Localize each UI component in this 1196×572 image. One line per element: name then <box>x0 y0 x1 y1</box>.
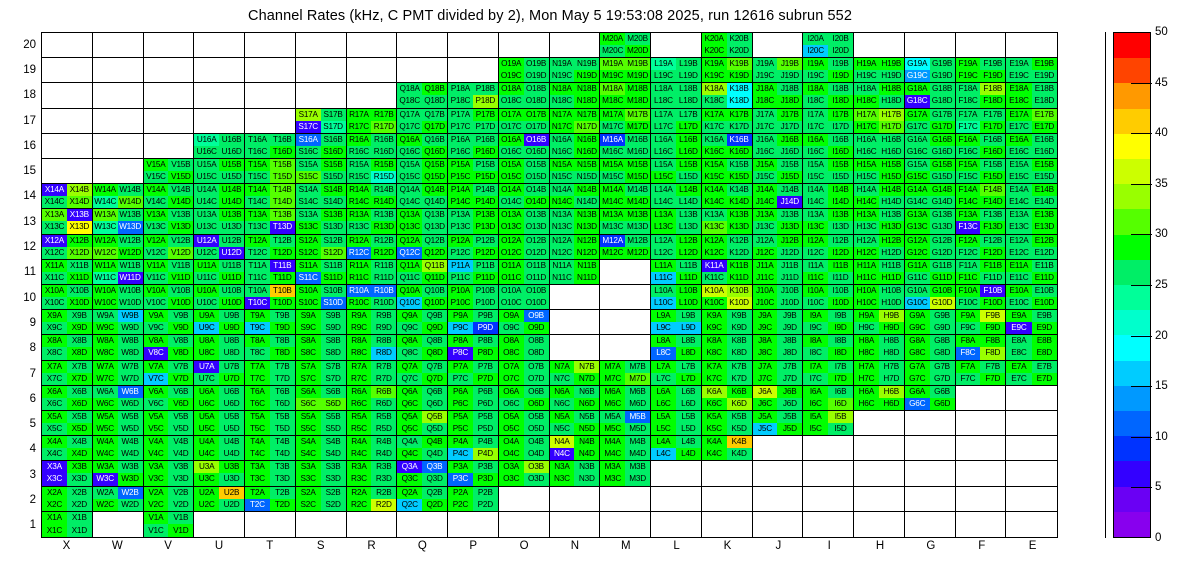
channel-subcell: S8D <box>321 347 346 359</box>
channel-subcell <box>144 146 169 158</box>
channel-subcell: O11B <box>524 260 549 272</box>
heatmap-cell: L5AL5BL5CL5D <box>651 411 702 436</box>
channel-subcell: G12C <box>905 247 930 259</box>
channel-subcell: K10C <box>702 297 727 309</box>
channel-subcell: M13D <box>625 221 650 233</box>
channel-subcell <box>524 524 549 537</box>
channel-subcell: R11A <box>347 260 372 272</box>
channel-subcell: S8B <box>321 335 346 347</box>
heatmap-cell <box>194 109 245 134</box>
channel-subcell: N17C <box>550 121 575 133</box>
x-axis-tick-label: O <box>504 540 544 552</box>
channel-subcell: U9C <box>194 322 219 334</box>
channel-subcell: O19D <box>524 70 549 82</box>
channel-subcell: S11D <box>321 272 346 284</box>
channel-subcell: H13A <box>854 209 879 221</box>
channel-subcell: O14D <box>524 196 549 208</box>
channel-subcell: J16B <box>777 134 802 146</box>
channel-subcell <box>956 386 981 398</box>
channel-subcell: J9A <box>753 310 778 322</box>
channel-subcell: F10B <box>980 285 1005 297</box>
channel-subcell: J8A <box>753 335 778 347</box>
heatmap-cell: P6AP6BP6CP6D <box>448 386 499 411</box>
channel-subcell: P9A <box>448 310 473 322</box>
heatmap-cell <box>144 109 195 134</box>
channel-subcell: V8D <box>168 347 193 359</box>
channel-subcell <box>194 95 219 107</box>
channel-subcell: N12A <box>550 235 575 247</box>
channel-subcell <box>550 335 575 347</box>
channel-subcell: L9A <box>651 310 676 322</box>
channel-subcell: T9C <box>245 322 270 334</box>
channel-subcell: H17C <box>854 121 879 133</box>
channel-subcell: R10A <box>347 285 372 297</box>
channel-subcell <box>854 33 879 45</box>
channel-subcell: W10B <box>118 285 143 297</box>
channel-subcell: V14A <box>144 184 169 196</box>
channel-subcell: K20A <box>702 33 727 45</box>
channel-subcell <box>168 70 193 82</box>
channel-subcell: U9D <box>219 322 244 334</box>
channel-subcell: I8A <box>803 335 828 347</box>
channel-subcell: T6B <box>270 386 295 398</box>
channel-subcell <box>600 524 625 537</box>
heatmap-cell: N6AN6BN6CN6D <box>550 386 601 411</box>
channel-subcell: N15C <box>550 171 575 183</box>
heatmap-cell: W9AW9BW9CW9D <box>93 310 144 335</box>
channel-subcell: H19B <box>879 58 904 70</box>
channel-subcell: Q10A <box>397 285 422 297</box>
channel-subcell <box>118 159 143 171</box>
channel-subcell: N14C <box>550 196 575 208</box>
colorbar-tick-mark <box>1131 83 1152 84</box>
heatmap-cell: G7AG7BG7CG7D <box>905 361 956 386</box>
channel-subcell <box>473 45 498 57</box>
channel-subcell: E16D <box>1032 146 1057 158</box>
channel-subcell: S16C <box>296 146 321 158</box>
channel-subcell: U13B <box>219 209 244 221</box>
channel-subcell: W12B <box>118 235 143 247</box>
channel-subcell: P10D <box>473 297 498 309</box>
heatmap-cell: Q15AQ15BQ15CQ15D <box>397 159 448 184</box>
heatmap-cell: P17AP17BP17CP17D <box>448 109 499 134</box>
channel-subcell <box>676 473 701 485</box>
channel-subcell: O18B <box>524 83 549 95</box>
heatmap-cell <box>651 487 702 512</box>
channel-subcell: I18A <box>803 83 828 95</box>
channel-subcell <box>980 423 1005 435</box>
heatmap-cell: U14AU14BU14CU14D <box>194 184 245 209</box>
channel-subcell <box>625 512 650 525</box>
channel-subcell: V2D <box>168 499 193 511</box>
channel-subcell: R15B <box>371 159 396 171</box>
channel-subcell: R16D <box>371 146 396 158</box>
heatmap-cell: L6AL6BL6CL6D <box>651 386 702 411</box>
channel-subcell: K18D <box>727 95 752 107</box>
channel-subcell: P4C <box>448 448 473 460</box>
channel-subcell <box>1032 436 1057 448</box>
channel-subcell: Q11A <box>397 260 422 272</box>
channel-subcell <box>879 423 904 435</box>
channel-subcell <box>93 45 118 57</box>
channel-subcell: O5C <box>499 423 524 435</box>
channel-subcell: Q18B <box>422 83 447 95</box>
channel-subcell: L17D <box>676 121 701 133</box>
channel-subcell: F19A <box>956 58 981 70</box>
channel-subcell: W13A <box>93 209 118 221</box>
channel-subcell <box>524 512 549 525</box>
channel-subcell <box>828 473 853 485</box>
channel-subcell: I10C <box>803 297 828 309</box>
channel-subcell <box>980 411 1005 423</box>
heatmap-cell <box>600 260 651 285</box>
heatmap-cell: H14AH14BH14CH14D <box>854 184 905 209</box>
channel-subcell: I20C <box>803 45 828 57</box>
channel-subcell: X6D <box>67 398 92 410</box>
channel-subcell: P5D <box>473 423 498 435</box>
channel-subcell: J9B <box>777 310 802 322</box>
channel-subcell <box>600 499 625 511</box>
channel-subcell: V7C <box>144 373 169 385</box>
channel-subcell: O8A <box>499 335 524 347</box>
x-axis-tick-label: I <box>809 540 849 552</box>
channel-subcell: E13D <box>1032 221 1057 233</box>
channel-subcell: X8D <box>67 347 92 359</box>
channel-subcell: U16B <box>219 134 244 146</box>
channel-subcell <box>321 512 346 525</box>
channel-subcell: M5D <box>625 423 650 435</box>
heatmap-cell: S7AS7BS7CS7D <box>296 361 347 386</box>
channel-subcell: Q13B <box>422 209 447 221</box>
channel-subcell: E9A <box>1006 310 1031 322</box>
channel-subcell <box>753 524 778 537</box>
channel-subcell <box>42 171 67 183</box>
channel-subcell: W14C <box>93 196 118 208</box>
channel-subcell: V5A <box>144 411 169 423</box>
channel-subcell: O4D <box>524 448 549 460</box>
heatmap-cell: S13AS13BS13CS13D <box>296 209 347 234</box>
heatmap-cell: V3AV3BV3CV3D <box>144 461 195 486</box>
heatmap-cell: U13AU13BU13CU13D <box>194 209 245 234</box>
channel-subcell: V6D <box>168 398 193 410</box>
channel-subcell: M7A <box>600 361 625 373</box>
channel-subcell <box>980 33 1005 45</box>
heatmap-cell: V11AV11BV11CV11D <box>144 260 195 285</box>
channel-subcell: J11D <box>777 272 802 284</box>
channel-subcell: E14B <box>1032 184 1057 196</box>
channel-subcell: R7A <box>347 361 372 373</box>
channel-subcell: S7B <box>321 361 346 373</box>
channel-subcell: P16D <box>473 146 498 158</box>
heatmap-cell: W2AW2BW2CW2D <box>93 487 144 512</box>
heatmap-cell <box>956 487 1007 512</box>
channel-subcell: E12D <box>1032 247 1057 259</box>
heatmap-cell: J19AJ19BJ19CJ19D <box>753 58 804 83</box>
heatmap-cell: P4AP4BP4CP4D <box>448 436 499 461</box>
channel-subcell: H10D <box>879 297 904 309</box>
heatmap-cell: L9AL9BL9CL9D <box>651 310 702 335</box>
channel-subcell <box>524 499 549 511</box>
channel-subcell: M20D <box>625 45 650 57</box>
channel-subcell: W13B <box>118 209 143 221</box>
heatmap-cell: E14AE14BE14CE14D <box>1006 184 1057 209</box>
heatmap-cell <box>144 83 195 108</box>
channel-subcell: K17C <box>702 121 727 133</box>
channel-subcell <box>168 45 193 57</box>
channel-subcell: L13B <box>676 209 701 221</box>
channel-subcell: J10A <box>753 285 778 297</box>
channel-subcell: L4C <box>651 448 676 460</box>
channel-subcell: V10B <box>168 285 193 297</box>
colorbar-tick-label: 15 <box>1155 380 1168 392</box>
channel-subcell <box>828 436 853 448</box>
heatmap-cell: I20AI20BI20CI20D <box>803 33 854 58</box>
heatmap-cell: F13AF13BF13CF13D <box>956 209 1007 234</box>
heatmap-cell <box>499 33 550 58</box>
colorbar-tick-label: 30 <box>1155 228 1168 240</box>
channel-subcell: R13A <box>347 209 372 221</box>
channel-subcell: V2B <box>168 487 193 499</box>
channel-subcell: H7A <box>854 361 879 373</box>
channel-subcell <box>397 58 422 70</box>
channel-subcell: R12B <box>371 235 396 247</box>
channel-subcell: V1A <box>144 512 169 525</box>
channel-subcell: R16B <box>371 134 396 146</box>
channel-subcell: E11B <box>1032 260 1057 272</box>
x-axis-tick-label: N <box>555 540 595 552</box>
channel-subcell: G18A <box>905 83 930 95</box>
heatmap-cell: W8AW8BW8CW8D <box>93 335 144 360</box>
channel-subcell: S4B <box>321 436 346 448</box>
channel-subcell: K7B <box>727 361 752 373</box>
channel-subcell: V15C <box>144 171 169 183</box>
heatmap-cell: M7AM7BM7CM7D <box>600 361 651 386</box>
x-axis-tick-label: X <box>46 540 86 552</box>
channel-subcell: J17C <box>753 121 778 133</box>
channel-subcell <box>1006 45 1031 57</box>
heatmap-cell <box>347 512 398 537</box>
channel-subcell: W7C <box>93 373 118 385</box>
channel-subcell: U16D <box>219 146 244 158</box>
channel-subcell: G8B <box>930 335 955 347</box>
channel-subcell: T7A <box>245 361 270 373</box>
channel-subcell: N15A <box>550 159 575 171</box>
heatmap-cell: E15AE15BE15CE15D <box>1006 159 1057 184</box>
channel-subcell: M6A <box>600 386 625 398</box>
channel-subcell: H9D <box>879 322 904 334</box>
channel-subcell: K13C <box>702 221 727 233</box>
channel-subcell <box>1032 461 1057 473</box>
heatmap-cell: U7AU7BU7CU7D <box>194 361 245 386</box>
channel-subcell: F9C <box>956 322 981 334</box>
channel-subcell: M15D <box>625 171 650 183</box>
y-axis-tick-label: 13 <box>2 216 36 228</box>
channel-subcell: M19B <box>625 58 650 70</box>
channel-subcell: I13A <box>803 209 828 221</box>
colorbar-tick-label: 40 <box>1155 127 1168 139</box>
heatmap-cell <box>397 512 448 537</box>
channel-subcell: H16A <box>854 134 879 146</box>
channel-subcell: U12A <box>194 235 219 247</box>
channel-subcell <box>600 512 625 525</box>
channel-subcell: H7B <box>879 361 904 373</box>
channel-subcell <box>296 70 321 82</box>
channel-subcell: J15D <box>777 171 802 183</box>
channel-subcell <box>550 512 575 525</box>
y-axis-tick-label: 14 <box>2 190 36 202</box>
heatmap-cell: H6AH6BH6CH6D <box>854 386 905 411</box>
heatmap-cell: Q13AQ13BQ13CQ13D <box>397 209 448 234</box>
heatmap-cell <box>93 58 144 83</box>
channel-subcell: I8C <box>803 347 828 359</box>
channel-subcell <box>321 95 346 107</box>
channel-subcell: I7C <box>803 373 828 385</box>
channel-subcell: Q4C <box>397 448 422 460</box>
heatmap-cell <box>905 512 956 537</box>
channel-subcell: W9C <box>93 322 118 334</box>
heatmap-cell: H15AH15BH15CH15D <box>854 159 905 184</box>
heatmap-grid: M20AM20BM20CM20DK20AK20BK20CK20DI20AI20B… <box>42 33 1057 537</box>
channel-subcell: O8B <box>524 335 549 347</box>
channel-subcell: L10A <box>651 285 676 297</box>
channel-subcell: W4D <box>118 448 143 460</box>
heatmap-cell: N7AN7BN7CN7D <box>550 361 601 386</box>
channel-subcell: T13D <box>270 221 295 233</box>
heatmap-cell: V6AV6BV6CV6D <box>144 386 195 411</box>
channel-subcell: I13C <box>803 221 828 233</box>
channel-subcell: I13B <box>828 209 853 221</box>
channel-subcell <box>651 461 676 473</box>
channel-subcell: X10C <box>42 297 67 309</box>
channel-subcell: G15C <box>905 171 930 183</box>
channel-subcell: K8B <box>727 335 752 347</box>
channel-subcell: S16B <box>321 134 346 146</box>
channel-subcell: H8C <box>854 347 879 359</box>
channel-subcell: W8C <box>93 347 118 359</box>
channel-subcell: X5C <box>42 423 67 435</box>
channel-subcell: T12C <box>245 247 270 259</box>
channel-subcell <box>828 448 853 460</box>
channel-subcell: L14C <box>651 196 676 208</box>
heatmap-cell <box>702 461 753 486</box>
channel-subcell: T4A <box>245 436 270 448</box>
heatmap-cell: S15AS15BS15CS15D <box>296 159 347 184</box>
channel-subcell: P4A <box>448 436 473 448</box>
channel-subcell: L14A <box>651 184 676 196</box>
channel-subcell: N7C <box>550 373 575 385</box>
heatmap-cell: K7AK7BK7CK7D <box>702 361 753 386</box>
channel-subcell <box>347 45 372 57</box>
channel-subcell <box>854 487 879 499</box>
channel-subcell: I14B <box>828 184 853 196</box>
channel-subcell: P18A <box>448 83 473 95</box>
heatmap-cell: F11AF11BF11CF11D <box>956 260 1007 285</box>
channel-subcell: K11C <box>702 272 727 284</box>
channel-subcell: F18A <box>956 83 981 95</box>
heatmap-cell: O8AO8BO8CO8D <box>499 335 550 360</box>
heatmap-cell <box>854 461 905 486</box>
channel-subcell: X9C <box>42 322 67 334</box>
channel-subcell: P8C <box>448 347 473 359</box>
channel-subcell: Q14C <box>397 196 422 208</box>
channel-subcell <box>422 524 447 537</box>
channel-subcell <box>219 58 244 70</box>
channel-subcell: X9D <box>67 322 92 334</box>
channel-subcell: O6A <box>499 386 524 398</box>
channel-subcell: F15A <box>956 159 981 171</box>
heatmap-cell: U4AU4BU4CU4D <box>194 436 245 461</box>
heatmap-cell: U5AU5BU5CU5D <box>194 411 245 436</box>
heatmap-cell: P5AP5BP5CP5D <box>448 411 499 436</box>
channel-subcell: R4C <box>347 448 372 460</box>
heatmap-cell <box>550 487 601 512</box>
channel-subcell: F19C <box>956 70 981 82</box>
channel-subcell: I10D <box>828 297 853 309</box>
channel-subcell <box>1032 473 1057 485</box>
channel-subcell <box>42 121 67 133</box>
channel-subcell: V5C <box>144 423 169 435</box>
channel-subcell: H17D <box>879 121 904 133</box>
channel-subcell <box>702 487 727 499</box>
channel-subcell: E7B <box>1032 361 1057 373</box>
channel-subcell: L9B <box>676 310 701 322</box>
channel-subcell <box>1006 524 1031 537</box>
channel-subcell: U15D <box>219 171 244 183</box>
channel-subcell <box>828 487 853 499</box>
channel-subcell: T14C <box>245 196 270 208</box>
channel-subcell: J17D <box>777 121 802 133</box>
channel-subcell: I12D <box>828 247 853 259</box>
channel-subcell: P10B <box>473 285 498 297</box>
channel-subcell: L5D <box>676 423 701 435</box>
y-axis-tick-label: 1 <box>2 519 36 531</box>
channel-subcell <box>296 95 321 107</box>
channel-subcell: U9A <box>194 310 219 322</box>
channel-subcell: J16A <box>753 134 778 146</box>
channel-subcell: J14C <box>753 196 778 208</box>
channel-subcell: J14B <box>777 184 802 196</box>
channel-subcell: U16A <box>194 134 219 146</box>
channel-subcell <box>753 487 778 499</box>
channel-subcell <box>550 524 575 537</box>
channel-subcell: E17B <box>1032 109 1057 121</box>
channel-subcell: H11D <box>879 272 904 284</box>
x-axis-tick-label: Q <box>402 540 442 552</box>
channel-subcell: Q3B <box>422 461 447 473</box>
channel-subcell: X10B <box>67 285 92 297</box>
channel-subcell: J10B <box>777 285 802 297</box>
channel-subcell: V12B <box>168 235 193 247</box>
channel-subcell: Q5D <box>422 423 447 435</box>
channel-subcell: G11A <box>905 260 930 272</box>
channel-subcell: J7B <box>777 361 802 373</box>
channel-subcell: N11A <box>550 260 575 272</box>
channel-subcell: M17D <box>625 121 650 133</box>
channel-subcell: S4D <box>321 448 346 460</box>
channel-subcell <box>753 461 778 473</box>
x-axis-tick-label: J <box>758 540 798 552</box>
heatmap-cell <box>1006 512 1057 537</box>
channel-subcell: T3B <box>270 461 295 473</box>
channel-subcell: L13D <box>676 221 701 233</box>
x-axis-tick-label: K <box>707 540 747 552</box>
channel-subcell: Q11B <box>422 260 447 272</box>
channel-subcell <box>371 524 396 537</box>
heatmap-cell <box>550 285 601 310</box>
channel-subcell <box>270 512 295 525</box>
channel-subcell <box>524 487 549 499</box>
heatmap-cell: V8AV8BV8CV8D <box>144 335 195 360</box>
